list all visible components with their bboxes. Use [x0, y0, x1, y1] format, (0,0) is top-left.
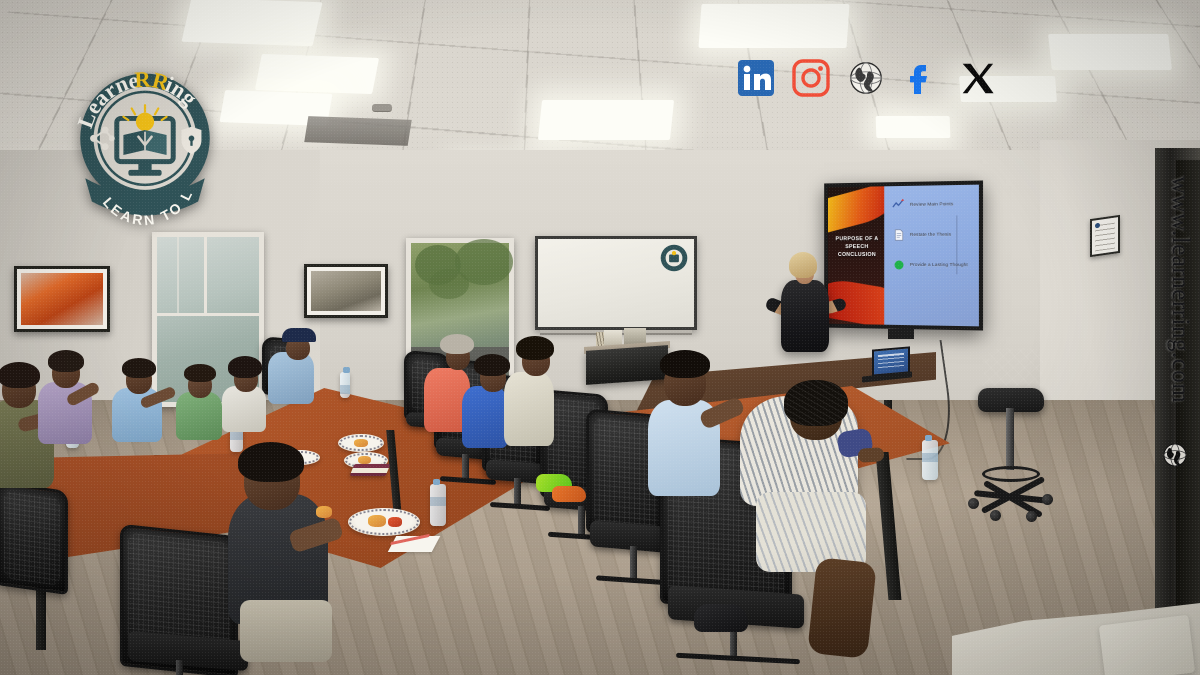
- globe-icon[interactable]: [845, 57, 887, 99]
- tv-wall-mount: [888, 329, 914, 339]
- water-bottle: [340, 372, 350, 398]
- paper-plate: [348, 508, 420, 536]
- slide-bullet-text: Restate the Thesis: [910, 232, 951, 237]
- white-cloth-fold: [1099, 615, 1195, 675]
- instagram-icon[interactable]: [790, 57, 832, 99]
- slide-bullet-row: Provide a Lasting Thought: [892, 258, 973, 271]
- black-shoe: [694, 604, 748, 632]
- paper-plate: [338, 434, 384, 452]
- drafting-stool-base: [968, 484, 1056, 518]
- presenter-torso: [781, 280, 829, 352]
- wall-mounted-tv: PURPOSE OF A SPEECH CONCLUSION Review Ma…: [824, 180, 983, 330]
- panel-light: [255, 54, 379, 94]
- whiteboard-logo-sticker: [660, 244, 688, 272]
- drafting-stool-footring: [982, 466, 1040, 482]
- linkedin-icon[interactable]: [735, 57, 777, 99]
- chart-line-icon: [892, 198, 905, 211]
- globe-icon: [1163, 443, 1187, 467]
- smoke-detector-icon: [372, 104, 392, 111]
- panel-light: [698, 4, 849, 48]
- panel-light: [181, 0, 322, 46]
- hardcover-book: [350, 464, 391, 476]
- water-bottle: [922, 440, 938, 480]
- facebook-icon[interactable]: [900, 57, 942, 99]
- slide-body-panel: Review Main Points Restate the Thesis: [884, 185, 979, 327]
- whiteboard: [535, 236, 697, 330]
- social-icon-row: [735, 57, 997, 99]
- ceiling-air-vent: [304, 116, 412, 146]
- slide-bullet-row: Restate the Thesis: [892, 228, 973, 242]
- classroom-photo: PURPOSE OF A SPEECH CONCLUSION Review Ma…: [0, 0, 1200, 675]
- presenter-hair: [789, 252, 817, 278]
- panel-light: [876, 116, 951, 138]
- slide-bullet-text: Provide a Lasting Thought: [910, 262, 968, 267]
- framed-certificate: [1090, 215, 1120, 257]
- x-twitter-icon[interactable]: [955, 57, 997, 99]
- green-dot-icon: [892, 258, 905, 271]
- slide-bullet-text: Review Main Points: [910, 201, 953, 207]
- slide-title-line: SPEECH: [831, 244, 883, 252]
- framed-helicopter-photo: [14, 266, 110, 332]
- presentation-slide: PURPOSE OF A SPEECH CONCLUSION Review Ma…: [828, 185, 979, 327]
- slide-title: PURPOSE OF A SPEECH CONCLUSION: [831, 236, 883, 259]
- panel-light: [538, 100, 674, 140]
- orange-sneaker: [552, 486, 586, 502]
- document-icon: [892, 228, 905, 241]
- slide-connector-line: [956, 215, 957, 274]
- slide-bullet-row: Review Main Points: [892, 197, 973, 211]
- logo-svg: Learne RR ing LEARN TO LEAD: [62, 62, 228, 228]
- drafting-stool-post: [1006, 408, 1014, 470]
- navy-baseball-cap: [282, 328, 316, 342]
- black-storage-credenza: [586, 345, 668, 385]
- learnerring-logo-badge: Learne RR ing LEARN TO LEAD: [62, 62, 228, 228]
- slide-title-line: CONCLUSION: [831, 252, 883, 260]
- slide-title-line: PURPOSE OF A: [831, 236, 883, 244]
- framed-aircraft-photo: [304, 264, 388, 318]
- panel-light: [1048, 34, 1172, 70]
- website-url-watermark: www.learnerring.com: [1154, 176, 1194, 403]
- water-bottle: [430, 484, 446, 526]
